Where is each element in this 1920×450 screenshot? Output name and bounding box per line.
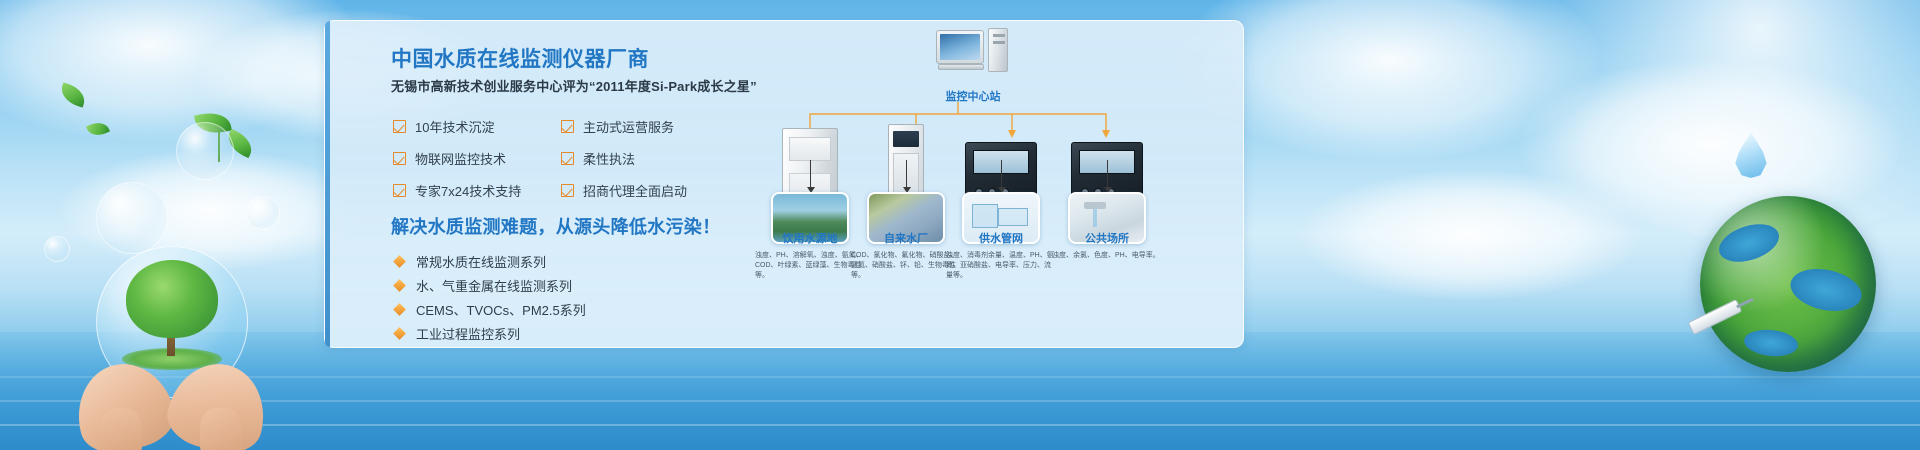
node-description: 浊度、余氯、色度、PH、电导率。	[1052, 251, 1162, 261]
water-band	[0, 332, 1920, 450]
node-name: 供水管网	[946, 230, 1056, 246]
left-palm	[67, 354, 181, 450]
monitor-screen	[940, 34, 980, 60]
cloud-shape	[60, 150, 360, 270]
bubble-shape	[176, 122, 234, 180]
earth-globe-illustration	[1700, 196, 1876, 372]
water-droplet-icon	[1734, 132, 1768, 178]
list-item: 水、气重金属在线监测系列	[395, 273, 586, 297]
feature-label: 10年技术沉淀	[415, 117, 494, 136]
sea-patch	[1714, 217, 1783, 268]
monitoring-center-computer-icon	[936, 28, 1010, 76]
right-wrist	[200, 408, 242, 450]
checkbox-checked-icon	[393, 184, 406, 197]
keyboard-icon	[938, 64, 984, 70]
wave-line	[0, 424, 1920, 426]
node-name: 自来水厂	[851, 230, 961, 246]
node-label-block: 供水管网 浊度、消毒剂余量、温度、PH、氨氮、亚硝酸盐、电导率、压力、流量等。	[946, 230, 1056, 281]
feature-item: 10年技术沉淀	[393, 117, 561, 136]
flow-arrow-icon	[1107, 160, 1108, 188]
node-description: COD、氯化物、氟化物、硝酸盐、氨氮、硝酸盐、钚、铅、生物毒性等。	[851, 251, 961, 281]
cloud-shape	[0, 0, 360, 140]
list-item-label: 水、气重金属在线监测系列	[416, 276, 572, 295]
tree-canopy-icon	[126, 260, 218, 338]
diamond-bullet-icon	[393, 255, 406, 268]
diamond-bullet-icon	[393, 303, 406, 316]
page-title: 中国水质在线监测仪器厂商	[391, 43, 649, 73]
connector-lines	[768, 100, 1248, 140]
sun-glow	[1480, 0, 1920, 240]
tree-trunk	[167, 330, 175, 356]
node-description: 浊度、PH、溶解氧、浊度、氨氮、COD、叶绿素、蓝绿藻、生物毒性等。	[755, 251, 865, 281]
sprout-stem	[218, 128, 220, 162]
pc-tower-icon	[988, 28, 1008, 72]
wave-line	[0, 400, 1920, 402]
product-series-list: 常规水质在线监测系列 水、气重金属在线监测系列 CEMS、TVOCs、PM2.5…	[395, 249, 586, 345]
bubble-shape	[246, 196, 280, 230]
cloud-shape	[1520, 60, 1900, 230]
node-label-block: 自来水厂 COD、氯化物、氟化物、硝酸盐、氨氮、硝酸盐、钚、铅、生物毒性等。	[851, 230, 961, 281]
feature-checklist: 10年技术沉淀 主动式运营服务 物联网监控技术 柔性执法 专家7x24技术支持 …	[393, 117, 753, 200]
diamond-bullet-icon	[393, 327, 406, 340]
sea-patch	[1743, 327, 1799, 359]
feature-label: 主动式运营服务	[583, 117, 674, 136]
list-item-label: CEMS、TVOCs、PM2.5系列	[416, 300, 586, 319]
list-item-label: 工业过程监控系列	[416, 324, 520, 343]
leaf-icon	[58, 82, 88, 107]
feature-item: 招商代理全面启动	[561, 181, 753, 200]
node-label-block: 公共场所 浊度、余氯、色度、PH、电导率。	[1052, 230, 1162, 261]
right-palm	[161, 354, 275, 450]
checkbox-checked-icon	[393, 120, 406, 133]
bubble-shape	[44, 236, 70, 262]
checkbox-checked-icon	[561, 120, 574, 133]
section-headline: 解决水质监测难题，从源头降低水污染！	[391, 213, 720, 239]
list-item: 常规水质在线监测系列	[395, 249, 586, 273]
wave-line	[0, 376, 1920, 378]
node-name: 饮用水源地	[755, 230, 865, 246]
list-item-label: 常规水质在线监测系列	[416, 252, 546, 271]
list-item: CEMS、TVOCs、PM2.5系列	[395, 297, 586, 321]
leaf-icon	[86, 119, 110, 140]
sea-patch	[1787, 263, 1866, 317]
hands-illustration	[76, 310, 266, 450]
bubble-shape	[96, 182, 168, 254]
list-item: 工业过程监控系列	[395, 321, 586, 345]
panel-accent-bar	[325, 21, 330, 347]
feature-label: 招商代理全面启动	[583, 181, 687, 200]
feature-item: 主动式运营服务	[561, 117, 753, 136]
checkbox-checked-icon	[561, 184, 574, 197]
node-label-block: 饮用水源地 浊度、PH、溶解氧、浊度、氨氮、COD、叶绿素、蓝绿藻、生物毒性等。	[755, 230, 865, 281]
node-description: 浊度、消毒剂余量、温度、PH、氨氮、亚硝酸盐、电导率、压力、流量等。	[946, 251, 1056, 281]
diamond-bullet-icon	[393, 279, 406, 292]
checkbox-checked-icon	[393, 152, 406, 165]
left-wrist	[100, 408, 142, 450]
page-subtitle: 无锡市高新技术创业服务中心评为“2011年度Si-Park成长之星”	[391, 76, 757, 95]
monitor-icon	[936, 30, 984, 64]
feature-item: 柔性执法	[561, 149, 753, 168]
feature-item: 专家7x24技术支持	[393, 181, 561, 200]
checkbox-checked-icon	[561, 152, 574, 165]
leaf-icon	[194, 109, 232, 138]
probe-icon	[1688, 299, 1743, 335]
feature-label: 柔性执法	[583, 149, 635, 168]
flow-arrow-icon	[906, 160, 907, 188]
flow-arrow-icon	[1001, 160, 1002, 188]
cloud-shape	[1300, 170, 1640, 300]
grass-disc	[122, 348, 222, 370]
feature-item: 物联网监控技术	[393, 149, 561, 168]
flow-arrow-icon	[810, 160, 811, 188]
leaf-icon	[223, 129, 256, 158]
feature-label: 物联网监控技术	[415, 149, 506, 168]
node-name: 公共场所	[1052, 230, 1162, 246]
water-globe	[96, 246, 248, 398]
feature-label: 专家7x24技术支持	[415, 181, 521, 200]
